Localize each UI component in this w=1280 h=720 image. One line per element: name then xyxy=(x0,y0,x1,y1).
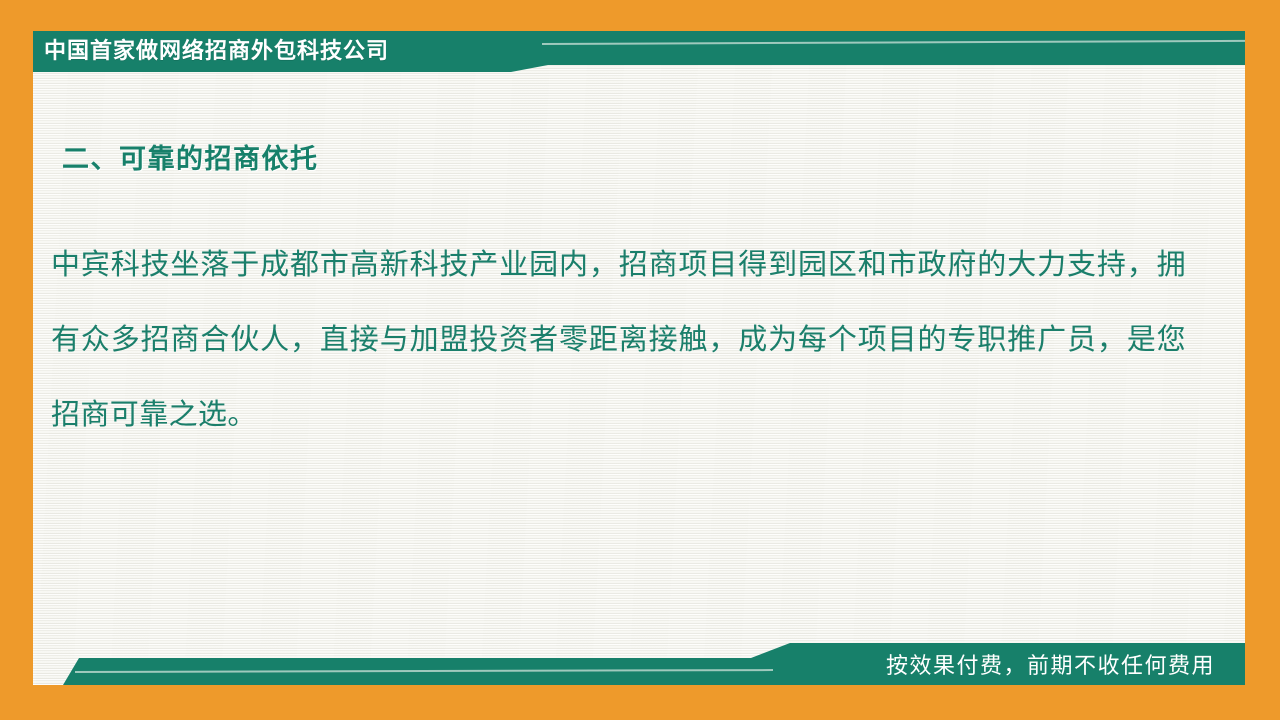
slide-footer-band: 按效果付费，前期不收任何费用 xyxy=(33,634,1245,685)
body-paragraph: 中宾科技坐落于成都市高新科技产业园内，招商项目得到园区和市政府的大力支持，拥有众… xyxy=(51,228,1186,453)
presentation-slide: 中国首家做网络招商外包科技公司 二、可靠的招商依托 中宾科技坐落于成都市高新科技… xyxy=(0,0,1280,720)
footer-tagline: 按效果付费，前期不收任何费用 xyxy=(33,634,1245,685)
header-title: 中国首家做网络招商外包科技公司 xyxy=(44,35,389,67)
section-heading: 二、可靠的招商依托 xyxy=(62,137,319,176)
